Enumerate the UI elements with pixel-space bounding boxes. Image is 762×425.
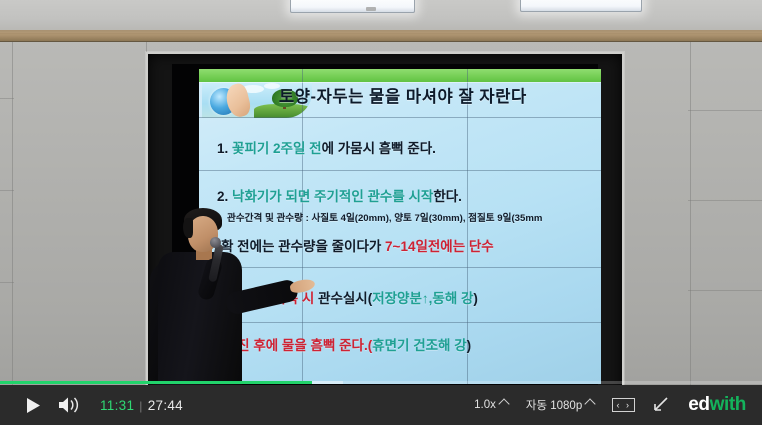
ceiling-light xyxy=(290,0,415,13)
slide-line-3-red: 7~14일전에는 단수 xyxy=(385,239,494,254)
ceiling-vent xyxy=(366,7,376,11)
wall-seam xyxy=(0,282,14,283)
video-player: 토양-자두는 물을 마셔야 잘 자란다 1. 꽃피기 2주일 전에 가뭄시 흠뻑… xyxy=(0,0,762,425)
presenter xyxy=(140,200,310,400)
current-time: 11:31 xyxy=(100,398,134,413)
video-frame[interactable]: 토양-자두는 물을 마셔야 잘 자란다 1. 꽃피기 2주일 전에 가뭄시 흠뻑… xyxy=(0,0,762,425)
slide-line-1-highlight: 꽃피기 2주일 전 xyxy=(232,141,322,156)
slide-line-2-rest: 한다. xyxy=(433,189,462,204)
slide-line-4-dark: 관수실시( xyxy=(318,291,372,306)
playback-speed-label: 1.0x xyxy=(474,399,496,411)
brand-logo: edwith xyxy=(688,394,746,416)
playback-speed-button[interactable]: 1.0x xyxy=(465,385,517,425)
wall-seam xyxy=(12,42,13,425)
wall-seam xyxy=(688,110,762,111)
slide-title: 토양-자두는 물을 마셔야 잘 자란다 xyxy=(279,83,597,107)
play-icon[interactable] xyxy=(22,385,44,425)
total-time: 27:44 xyxy=(148,398,183,413)
wall-seam xyxy=(688,200,762,201)
time-separator: | xyxy=(139,399,142,413)
slide-line-4-teal: 저장양분↑,동해 강 xyxy=(372,291,473,306)
time-display: 11:31 | 27:44 xyxy=(100,398,183,413)
volume-icon[interactable] xyxy=(56,385,86,425)
quality-button[interactable]: 자동 1080p xyxy=(517,385,603,425)
wall-seam xyxy=(0,190,14,191)
seek-bar-progress xyxy=(0,381,312,384)
slide-line-5-teal: 휴면기 건조해 강 xyxy=(372,338,466,353)
wall-seam xyxy=(688,290,762,291)
wall-seam xyxy=(690,42,691,425)
slide-line-1-rest: 에 가뭄시 흠뻑 준다. xyxy=(322,141,436,156)
brand-second: with xyxy=(710,394,746,415)
slide-line-4-tail: ) xyxy=(473,291,478,306)
slide-line-5-tail: ) xyxy=(467,338,472,353)
chevron-up-icon xyxy=(498,398,509,409)
prev-next-label: ‹ › xyxy=(616,400,631,410)
slide-top-green-bar xyxy=(199,69,601,82)
quality-label: 자동 1080p xyxy=(526,397,582,413)
chevron-up-icon xyxy=(585,398,596,409)
slide-line-1: 1. 꽃피기 2주일 전에 가뭄시 흠뻑 준다. xyxy=(217,137,436,157)
expand-icon[interactable] xyxy=(650,394,672,416)
brand-first: ed xyxy=(688,394,709,415)
slide-line-1-number: 1. xyxy=(217,141,228,156)
wall-seam xyxy=(0,98,14,99)
player-control-bar: 11:31 | 27:44 1.0x 자동 1080p ‹ › xyxy=(0,385,762,425)
ceiling-light xyxy=(520,0,642,12)
prev-next-icon[interactable]: ‹ › xyxy=(612,398,635,412)
